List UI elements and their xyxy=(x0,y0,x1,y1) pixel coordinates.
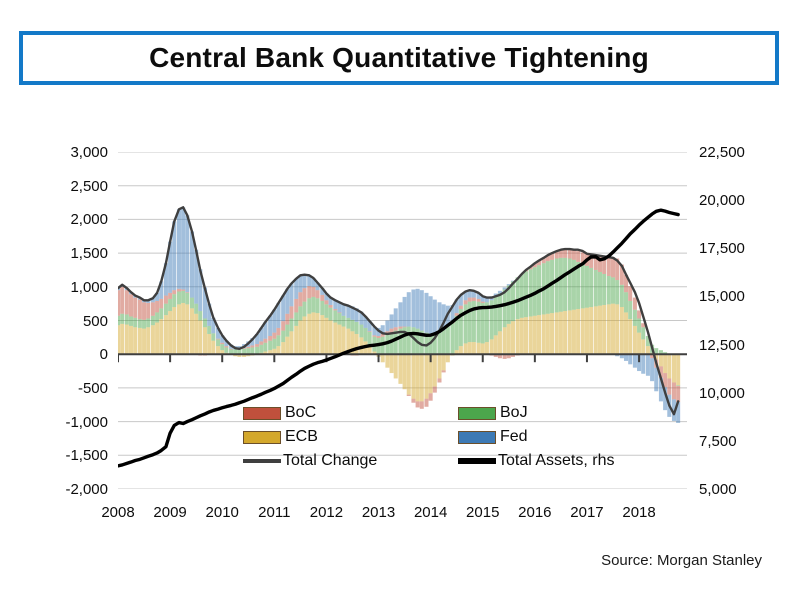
y-axis-tick: -1,500 xyxy=(40,448,108,463)
legend-swatch xyxy=(243,431,281,444)
x-axis-tick: 2011 xyxy=(244,505,304,520)
legend-item-ecb[interactable]: ECB xyxy=(243,426,318,448)
chart-container: 6m Change in Assets, $bn 3,0002,5002,000… xyxy=(0,130,800,540)
x-axis-tick: 2015 xyxy=(453,505,513,520)
x-axis-tick: 2013 xyxy=(349,505,409,520)
legend-swatch xyxy=(458,431,496,444)
legend-item-fed[interactable]: Fed xyxy=(458,426,528,448)
legend-label: ECB xyxy=(285,429,318,445)
y2-axis-tick: 15,000 xyxy=(699,289,745,304)
legend-item-boc[interactable]: BoC xyxy=(243,402,316,424)
y-axis-tick: -500 xyxy=(40,381,108,396)
legend-label: Total Assets, rhs xyxy=(498,453,615,469)
slide-root: Central Bank Quantitative Tightening 6m … xyxy=(0,0,800,600)
y-axis-tick: 1,500 xyxy=(40,246,108,261)
y-axis-tick: 500 xyxy=(40,314,108,329)
y2-axis-tick: 20,000 xyxy=(699,193,745,208)
y-axis-tick: 1,000 xyxy=(40,280,108,295)
legend-label: BoC xyxy=(285,405,316,421)
y-axis-tick: 2,500 xyxy=(40,179,108,194)
x-axis-tick: 2017 xyxy=(557,505,617,520)
source-note: Source: Morgan Stanley xyxy=(601,552,762,569)
x-axis-tick: 2010 xyxy=(192,505,252,520)
x-axis-tick: 2012 xyxy=(296,505,356,520)
y-axis-tick: 3,000 xyxy=(40,145,108,160)
x-axis-tick: 2008 xyxy=(88,505,148,520)
x-axis-tick: 2014 xyxy=(401,505,461,520)
y-axis-tick: 0 xyxy=(40,347,108,362)
y2-axis-tick: 5,000 xyxy=(699,482,737,497)
legend-label: Fed xyxy=(500,429,528,445)
legend-item-total-assets-rhs[interactable]: Total Assets, rhs xyxy=(458,450,615,472)
x-axis-tick: 2009 xyxy=(140,505,200,520)
x-axis-tick: 2016 xyxy=(505,505,565,520)
page-title: Central Bank Quantitative Tightening xyxy=(149,42,649,74)
y-axis-tick: -2,000 xyxy=(40,482,108,497)
title-box: Central Bank Quantitative Tightening xyxy=(19,31,779,85)
legend-label: Total Change xyxy=(283,453,377,469)
legend-line-swatch xyxy=(458,458,496,464)
legend-item-boj[interactable]: BoJ xyxy=(458,402,528,424)
legend-line-swatch xyxy=(243,459,281,463)
y2-axis-tick: 10,000 xyxy=(699,386,745,401)
y2-axis-tick: 17,500 xyxy=(699,241,745,256)
legend-swatch xyxy=(458,407,496,420)
legend-label: BoJ xyxy=(500,405,528,421)
legend-item-total-change[interactable]: Total Change xyxy=(243,450,377,472)
x-axis-tick: 2018 xyxy=(609,505,669,520)
y2-axis-tick: 12,500 xyxy=(699,338,745,353)
chart-legend: BoCECBTotal ChangeBoJFedTotal Assets, rh… xyxy=(243,402,663,474)
y2-axis-tick: 22,500 xyxy=(699,145,745,160)
legend-swatch xyxy=(243,407,281,420)
y-axis-tick: -1,000 xyxy=(40,415,108,430)
y2-axis-tick: 7,500 xyxy=(699,434,737,449)
y-axis-tick: 2,000 xyxy=(40,212,108,227)
